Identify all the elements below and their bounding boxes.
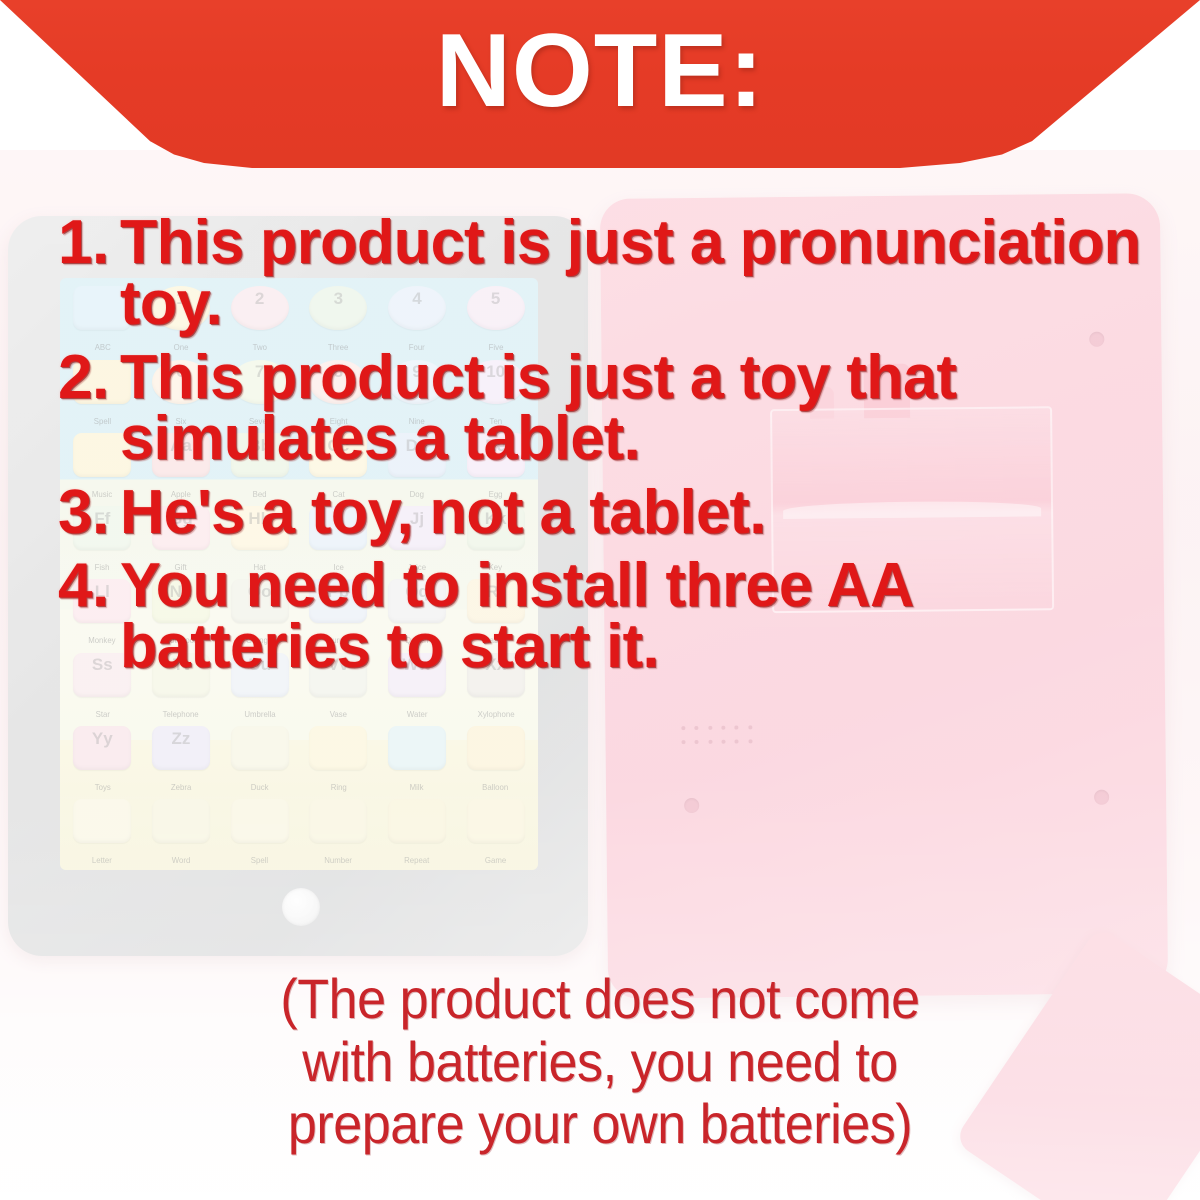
tablet-key-cap <box>152 799 210 843</box>
tablet-key: ZzZebra <box>143 722 220 793</box>
notes-list: 1. This product is just a pronunciation … <box>58 212 1178 690</box>
tablet-key-label: Ring <box>330 782 346 792</box>
tablet-key-label: Milk <box>410 782 424 792</box>
tablet-key-label: Number <box>324 855 352 865</box>
tablet-key: Repeat <box>379 795 456 866</box>
tablet-key-label: Telephone <box>163 709 199 719</box>
speaker-grille-icon <box>681 725 759 752</box>
tablet-key-label: Umbrella <box>244 709 275 719</box>
tablet-key-cap <box>309 799 367 843</box>
tablet-key-label: Star <box>95 709 109 719</box>
screw-icon <box>1094 790 1109 805</box>
tablet-key-label: Spell <box>251 855 268 865</box>
tablet-key-label: Water <box>407 709 428 719</box>
note-item: 2. This product is just a toy that simul… <box>58 347 1178 470</box>
footnote-line: with batteries, you need to <box>42 1031 1158 1094</box>
tablet-key: Balloon <box>457 722 534 793</box>
note-text: You need to install three AA batteries t… <box>120 555 1162 678</box>
note-item: 3. He's a toy, not a tablet. <box>58 482 1178 543</box>
tablet-key: Ring <box>300 722 377 793</box>
tablet-key-label: Xylophone <box>477 709 514 719</box>
tablet-key: Word <box>143 795 220 866</box>
tablet-key-label: Balloon <box>483 782 509 792</box>
note-number: 2. <box>58 347 120 408</box>
note-number: 4. <box>58 555 120 616</box>
tablet-key-label: Game <box>485 855 506 865</box>
footnote: (The product does not come with batterie… <box>0 968 1200 1156</box>
tablet-key-cap <box>388 726 446 770</box>
note-text: He's a toy, not a tablet. <box>120 482 1162 543</box>
tablet-key-label: Zebra <box>171 782 191 792</box>
note-infographic-page: ABC1One2Two3Three4Four5FiveSpell6Six7Sev… <box>0 0 1200 1200</box>
tablet-key-cap <box>388 799 446 843</box>
tablet-key-label: Word <box>172 855 191 865</box>
tablet-key-cap <box>467 799 525 843</box>
tablet-key-glyph: Zz <box>143 729 220 749</box>
tablet-key: YyToys <box>64 722 141 793</box>
footnote-line: (The product does not come <box>42 968 1158 1031</box>
tablet-key-glyph: Yy <box>64 729 141 749</box>
tablet-key-label: Toys <box>94 782 110 792</box>
screw-icon <box>684 798 699 813</box>
tablet-key-label: Vase <box>330 709 347 719</box>
tablet-key-label: Duck <box>251 782 269 792</box>
tablet-key-label: Letter <box>92 855 112 865</box>
note-text: This product is just a pronunciation toy… <box>120 212 1162 335</box>
tablet-key: Duck <box>221 722 298 793</box>
tablet-key: Letter <box>64 795 141 866</box>
home-button-icon <box>282 888 320 926</box>
tablet-key: Spell <box>221 795 298 866</box>
tablet-key-cap <box>309 726 367 770</box>
note-item: 1. This product is just a pronunciation … <box>58 212 1178 335</box>
tablet-key-cap <box>73 799 131 843</box>
tablet-key: Number <box>300 795 377 866</box>
tablet-key-label: Repeat <box>404 855 429 865</box>
tablet-key-cap <box>467 726 525 770</box>
tablet-key-cap <box>231 799 289 843</box>
tablet-key-cap <box>231 726 289 770</box>
tablet-key: Milk <box>379 722 456 793</box>
page-title: NOTE: <box>0 19 1200 123</box>
note-text: This product is just a toy that simulate… <box>120 347 1162 470</box>
tablet-key: Game <box>457 795 534 866</box>
note-item: 4. You need to install three AA batterie… <box>58 555 1178 678</box>
footnote-line: prepare your own batteries) <box>42 1093 1158 1156</box>
note-number: 1. <box>58 212 120 273</box>
note-number: 3. <box>58 482 120 543</box>
